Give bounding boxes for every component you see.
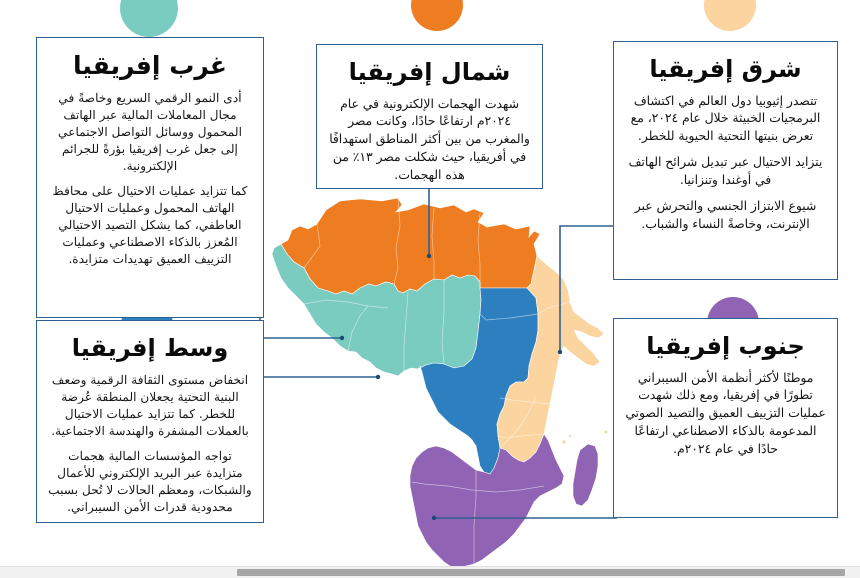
- card-title-east-africa: شرق إفريقيا: [625, 56, 826, 84]
- card-paragraph: انخفاض مستوى الثقافة الرقمية وضعف البنية…: [48, 372, 252, 440]
- card-body-west-africa: أدى النمو الرقمي السريع وخاصةً في مجال ا…: [48, 90, 252, 269]
- card-paragraph: يتزايد الاحتيال عبر تبديل شرائح الهاتف ف…: [625, 154, 826, 190]
- decorative-blob-east: [704, 0, 756, 31]
- horizontal-scrollbar-thumb[interactable]: [237, 569, 845, 576]
- decorative-blob-west: [120, 0, 178, 37]
- island-dot-2: [569, 435, 571, 437]
- region-card-north-africa[interactable]: شمال إفريقيا شهدت الهجمات الإلكترونية في…: [316, 44, 543, 189]
- card-title-north-africa: شمال إفريقيا: [328, 59, 531, 87]
- card-title-west-africa: غرب إفريقيا: [48, 52, 252, 81]
- region-card-east-africa[interactable]: شرق إفريقيا تتصدر إثيوبيا دول العالم في …: [613, 41, 838, 280]
- card-paragraph: أدى النمو الرقمي السريع وخاصةً في مجال ا…: [48, 90, 252, 175]
- card-paragraph: تتصدر إثيوبيا دول العالم في اكتشاف البرم…: [625, 93, 826, 146]
- card-body-south-africa: موطنًا لأكثر أنظمة الأمن السيبراني تطورً…: [625, 370, 826, 459]
- island-dot-3: [605, 431, 608, 434]
- card-paragraph: شهدت الهجمات الإلكترونية في عام ٢٠٢٤م ار…: [328, 96, 531, 185]
- card-body-north-africa: شهدت الهجمات الإلكترونية في عام ٢٠٢٤م ار…: [328, 96, 531, 185]
- region-card-south-africa[interactable]: جنوب إفريقيا موطنًا لأكثر أنظمة الأمن ال…: [613, 318, 838, 518]
- card-title-south-africa: جنوب إفريقيا: [625, 333, 826, 361]
- card-body-east-africa: تتصدر إثيوبيا دول العالم في اكتشاف البرم…: [625, 93, 826, 234]
- card-paragraph: تواجه المؤسسات المالية هجمات متزايدة عبر…: [48, 448, 252, 516]
- island-dot-1: [562, 440, 565, 443]
- card-paragraph: موطنًا لأكثر أنظمة الأمن السيبراني تطورً…: [625, 370, 826, 459]
- card-paragraph: شيوع الابتزاز الجنسي والتحرش عبر الإنترن…: [625, 198, 826, 234]
- infographic-canvas: غرب إفريقيا أدى النمو الرقمي السريع وخاص…: [0, 0, 860, 578]
- card-paragraph: كما تتزايد عمليات الاحتيال على محافظ اله…: [48, 183, 252, 268]
- card-body-central-africa: انخفاض مستوى الثقافة الرقمية وضعف البنية…: [48, 372, 252, 517]
- card-title-central-africa: وسط إفريقيا: [48, 335, 252, 363]
- africa-map: [248, 196, 616, 574]
- decorative-blob-north: [411, 0, 463, 31]
- region-card-central-africa[interactable]: وسط إفريقيا انخفاض مستوى الثقافة الرقمية…: [36, 320, 264, 523]
- madagascar-region: [573, 444, 598, 506]
- region-card-west-africa[interactable]: غرب إفريقيا أدى النمو الرقمي السريع وخاص…: [36, 37, 264, 318]
